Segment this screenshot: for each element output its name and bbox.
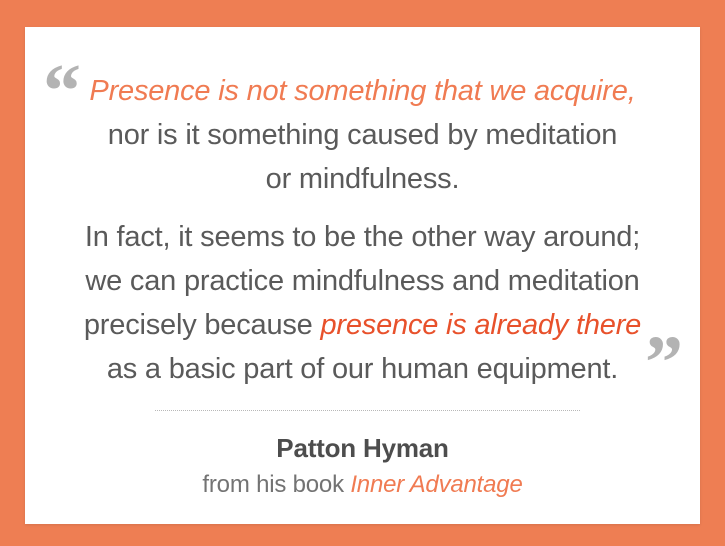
quote-line: we can practice mindfulness and meditati… [25,259,700,303]
quote-line-accent: presence is already there [320,309,641,341]
quote-line: In fact, it seems to be the other way ar… [25,215,700,259]
quote-card: “ Presence is not something that we acqu… [25,27,700,524]
quote-line: precisely because presence is already th… [25,303,700,347]
attribution: Patton Hyman from his book Inner Advanta… [25,429,700,503]
dotted-separator [155,410,580,412]
quote-line: nor is it something caused by meditation [25,113,700,157]
quote-paragraph-one: Presence is not something that we acquir… [25,69,700,201]
quote-line: or mindfulness. [25,157,700,201]
source-prefix: from his book [202,471,350,498]
source-line: from his book Inner Advantage [25,467,700,503]
quote-paragraph-two: In fact, it seems to be the other way ar… [25,215,700,391]
book-title: Inner Advantage [350,471,522,498]
quote-line-plain: precisely because [84,309,321,341]
quote-line: Presence is not something that we acquir… [25,69,700,113]
closing-quotation-mark-icon: ” [645,325,681,401]
quote-line: as a basic part of our human equipment. [25,347,700,391]
author-name: Patton Hyman [25,429,700,467]
quote-line-accent: Presence is not something that we acquir… [89,75,635,107]
